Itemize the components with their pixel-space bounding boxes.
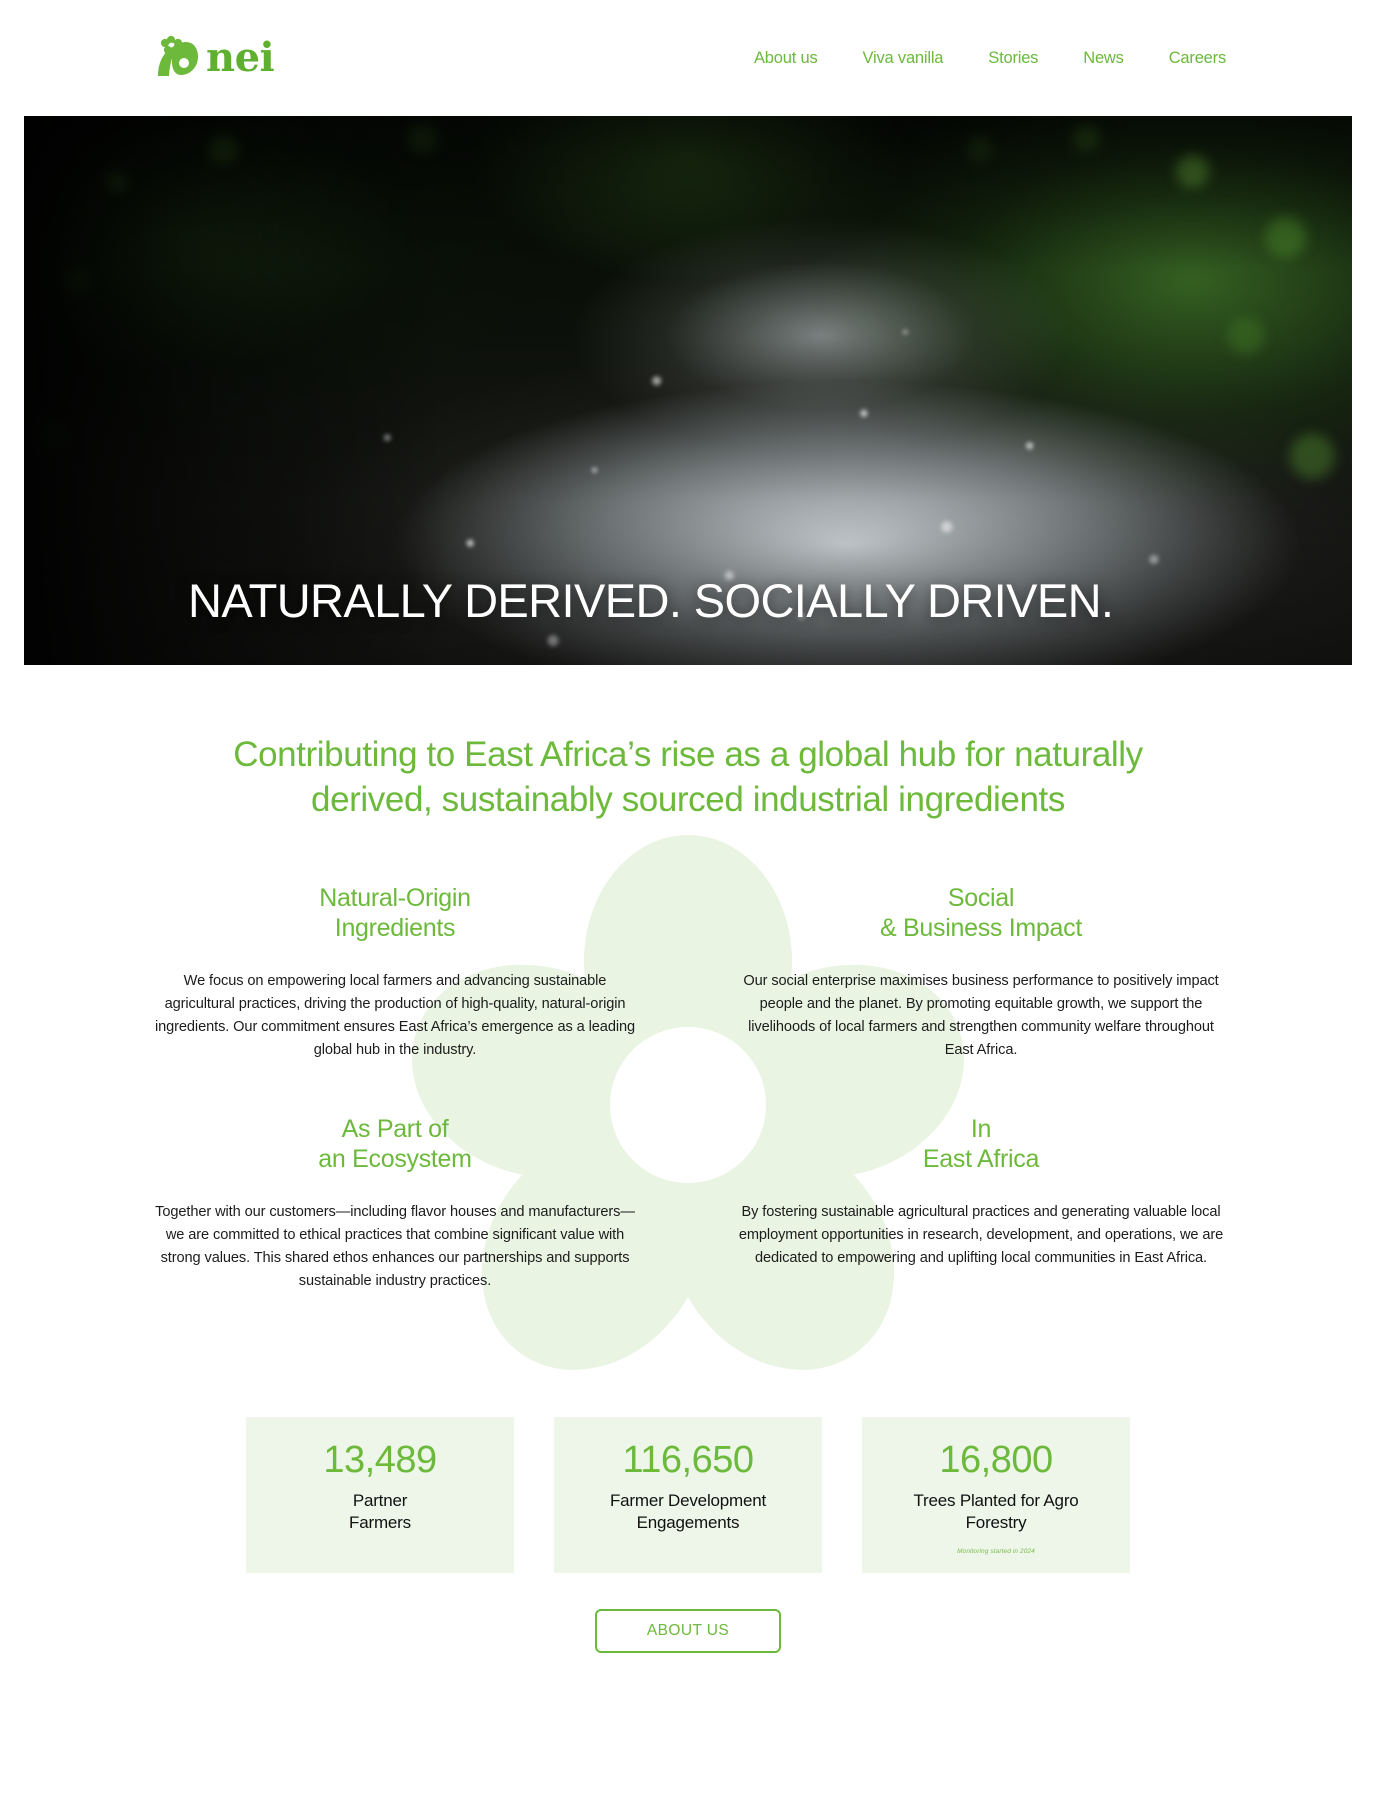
stat-value: 13,489 — [260, 1439, 500, 1482]
pillar-body: We focus on empowering local farmers and… — [150, 970, 640, 1062]
nav-item-news[interactable]: News — [1083, 49, 1123, 68]
pillar-title: As Part of an Ecosystem — [150, 1114, 640, 1175]
pillar-body: Our social enterprise maximises business… — [736, 970, 1226, 1062]
main-navigation: About us Viva vanilla Stories News Caree… — [754, 49, 1226, 68]
pillar-body: By fostering sustainable agricultural pr… — [736, 1201, 1226, 1270]
brand-logo-link[interactable]: nei — [152, 34, 274, 82]
pillar-title: Natural-Origin Ingredients — [150, 883, 640, 944]
stat-card-trees-planted: 16,800 Trees Planted for Agro Forestry M… — [862, 1417, 1130, 1573]
about-us-button[interactable]: ABOUT US — [595, 1609, 781, 1653]
pillars-section: Natural-Origin Ingredients We focus on e… — [0, 823, 1376, 1293]
nav-item-careers[interactable]: Careers — [1169, 49, 1226, 68]
stat-footnote: Monitoring started in 2024 — [876, 1548, 1116, 1555]
pillar-card: Social & Business Impact Our social ente… — [736, 883, 1226, 1062]
pillar-title: In East Africa — [736, 1114, 1226, 1175]
stat-card-partner-farmers: 13,489 Partner Farmers — [246, 1417, 514, 1573]
flower-leaf-logo-icon — [152, 34, 200, 82]
stat-card-farmer-development-engagements: 116,650 Farmer Development Engagements — [554, 1417, 822, 1573]
stat-value: 116,650 — [568, 1439, 808, 1482]
nav-item-about-us[interactable]: About us — [754, 49, 818, 68]
impact-stats: 13,489 Partner Farmers 116,650 Farmer De… — [0, 1293, 1376, 1573]
stat-label: Trees Planted for Agro Forestry — [876, 1490, 1116, 1534]
nav-item-stories[interactable]: Stories — [988, 49, 1038, 68]
intro-section: Contributing to East Africa’s rise as a … — [0, 665, 1376, 823]
nav-item-viva-vanilla[interactable]: Viva vanilla — [863, 49, 944, 68]
pillars-grid: Natural-Origin Ingredients We focus on e… — [0, 883, 1376, 1293]
pillar-card: Natural-Origin Ingredients We focus on e… — [150, 883, 640, 1062]
pillar-body: Together with our customers—including fl… — [150, 1201, 640, 1293]
pillar-card: In East Africa By fostering sustainable … — [736, 1114, 1226, 1293]
site-header: nei About us Viva vanilla Stories News C… — [0, 0, 1376, 116]
brand-wordmark: nei — [206, 38, 274, 78]
hero-banner: NATURALLY DERIVED. SOCIALLY DRIVEN. — [24, 116, 1352, 665]
stat-label: Farmer Development Engagements — [568, 1490, 808, 1534]
stat-label: Partner Farmers — [260, 1490, 500, 1534]
cta-row: ABOUT US — [0, 1573, 1376, 1713]
pillar-card: As Part of an Ecosystem Together with ou… — [150, 1114, 640, 1293]
hero-title: NATURALLY DERIVED. SOCIALLY DRIVEN. — [188, 576, 1113, 625]
pillar-title: Social & Business Impact — [736, 883, 1226, 944]
intro-heading: Contributing to East Africa’s rise as a … — [168, 733, 1208, 823]
stat-value: 16,800 — [876, 1439, 1116, 1482]
